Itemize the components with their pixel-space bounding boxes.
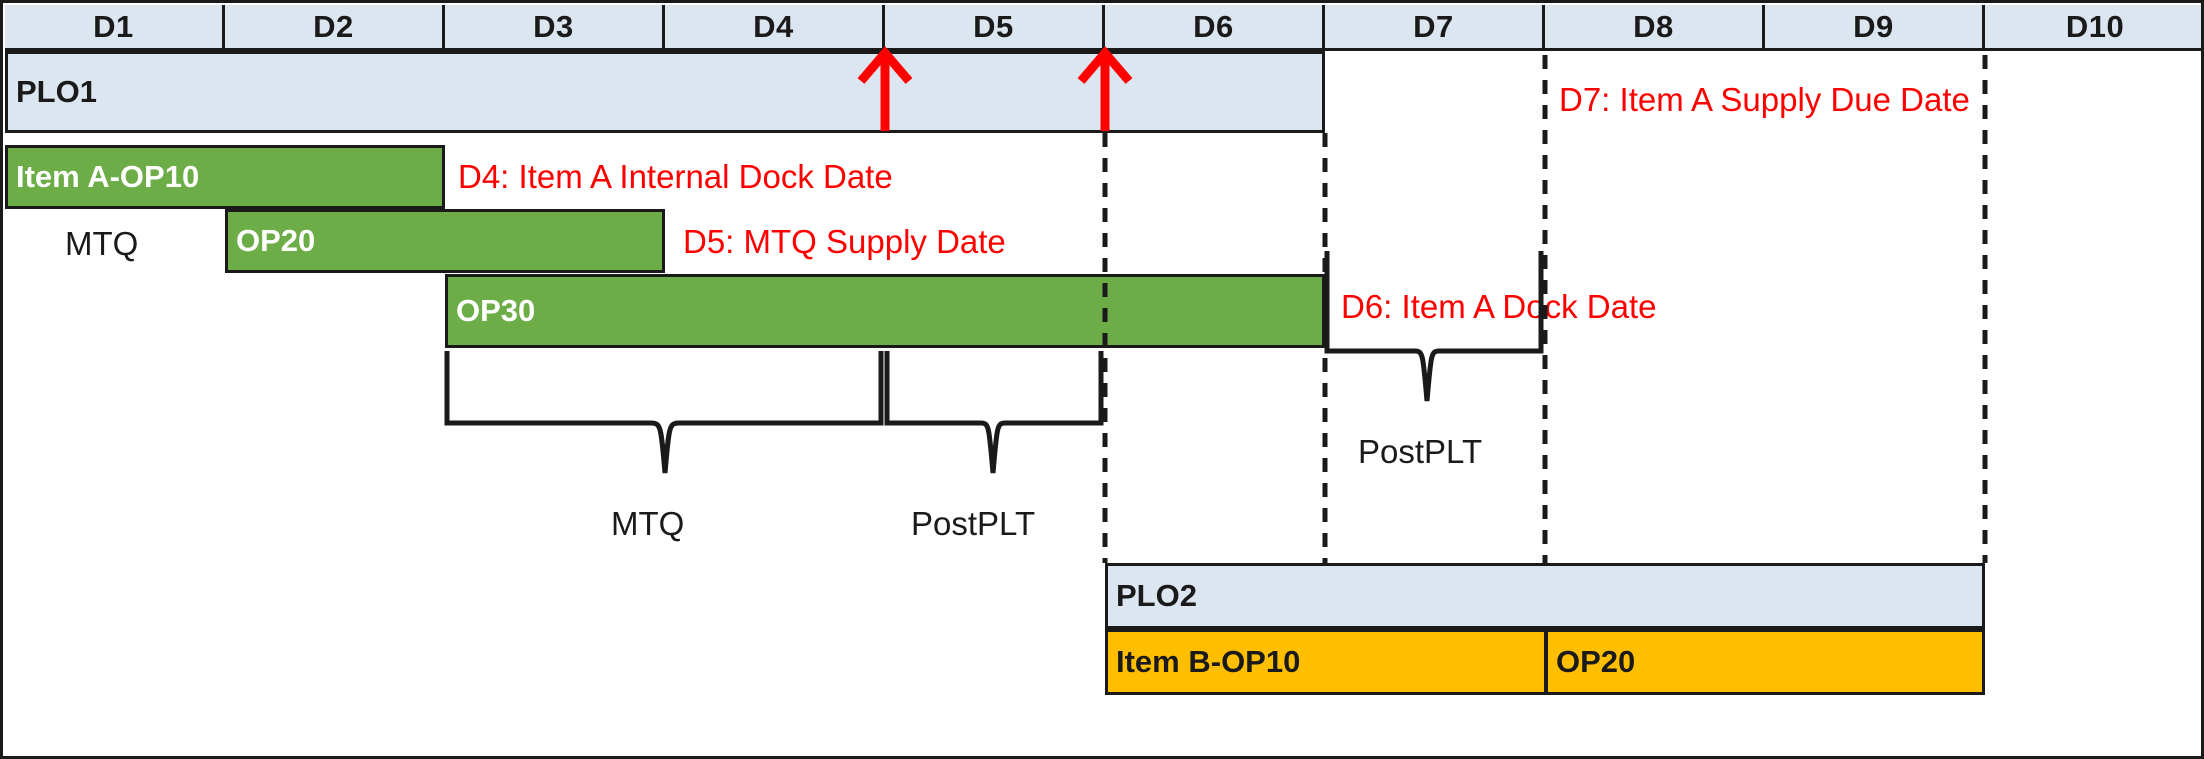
brace-label-postplt-1: PostPLT (911, 505, 1035, 543)
timeline-column-d7[interactable]: D7 (1325, 5, 1545, 51)
plo1-operation-op10-label: Item A-OP10 (8, 159, 199, 195)
plo1-operation-op20-bar[interactable]: OP20 (225, 209, 665, 273)
column-label: D5 (973, 9, 1014, 45)
plo2-bar[interactable]: PLO2 (1105, 563, 1985, 629)
brace-postplt-primary (887, 351, 1101, 473)
timeline-column-d10[interactable]: D10 (1985, 5, 2204, 51)
annotation-d5-mtq-supply-date: D5: MTQ Supply Date (683, 223, 1006, 261)
plo2-label: PLO2 (1108, 578, 1197, 614)
plo1-operation-op30-bar[interactable]: OP30 (445, 274, 1325, 348)
column-label: D7 (1413, 9, 1454, 45)
column-label: D6 (1193, 9, 1234, 45)
plo2-operation-op20-bar[interactable]: OP20 (1545, 629, 1985, 695)
plo2-operation-op10-label: Item B-OP10 (1108, 644, 1300, 680)
brace-label-mtq: MTQ (611, 505, 684, 543)
timeline-column-d4[interactable]: D4 (665, 5, 885, 51)
brace-mtq (447, 351, 881, 473)
column-label: D9 (1853, 9, 1894, 45)
brace-postplt-secondary (1327, 251, 1541, 401)
column-label: D1 (93, 9, 134, 45)
plo1-operation-op30-label: OP30 (448, 293, 535, 329)
plo1-operation-op20-label: OP20 (228, 223, 315, 259)
column-label: D2 (313, 9, 354, 45)
annotation-d6-item-a-dock-date: D6: Item A Dock Date (1341, 288, 1656, 326)
plo1-bar[interactable]: PLO1 (5, 51, 1325, 133)
gantt-timeline-diagram: D1 D2 D3 D4 D5 D6 D7 D8 D9 D10 PLO1 Item… (0, 0, 2204, 759)
timeline-column-d3[interactable]: D3 (445, 5, 665, 51)
timeline-header-row: D1 D2 D3 D4 D5 D6 D7 D8 D9 D10 (5, 5, 2204, 51)
timeline-column-d9[interactable]: D9 (1765, 5, 1985, 51)
plo1-operation-op10-bar[interactable]: Item A-OP10 (5, 145, 445, 209)
annotation-d4-internal-dock-date: D4: Item A Internal Dock Date (458, 158, 893, 196)
timeline-column-d6[interactable]: D6 (1105, 5, 1325, 51)
brace-label-postplt-2: PostPLT (1358, 433, 1482, 471)
timeline-column-d5[interactable]: D5 (885, 5, 1105, 51)
column-label: D4 (753, 9, 794, 45)
column-label: D3 (533, 9, 574, 45)
column-label: D10 (2066, 9, 2124, 45)
timeline-column-d8[interactable]: D8 (1545, 5, 1765, 51)
annotation-d7-item-a-supply-due-date: D7: Item A Supply Due Date (1559, 81, 1970, 119)
timeline-column-d2[interactable]: D2 (225, 5, 445, 51)
column-label: D8 (1633, 9, 1674, 45)
mtq-leading-label: MTQ (65, 225, 138, 263)
plo1-label: PLO1 (8, 74, 97, 110)
plo2-operation-op20-label: OP20 (1548, 644, 1635, 680)
timeline-column-d1[interactable]: D1 (5, 5, 225, 51)
plo2-operation-op10-bar[interactable]: Item B-OP10 (1105, 629, 1547, 695)
